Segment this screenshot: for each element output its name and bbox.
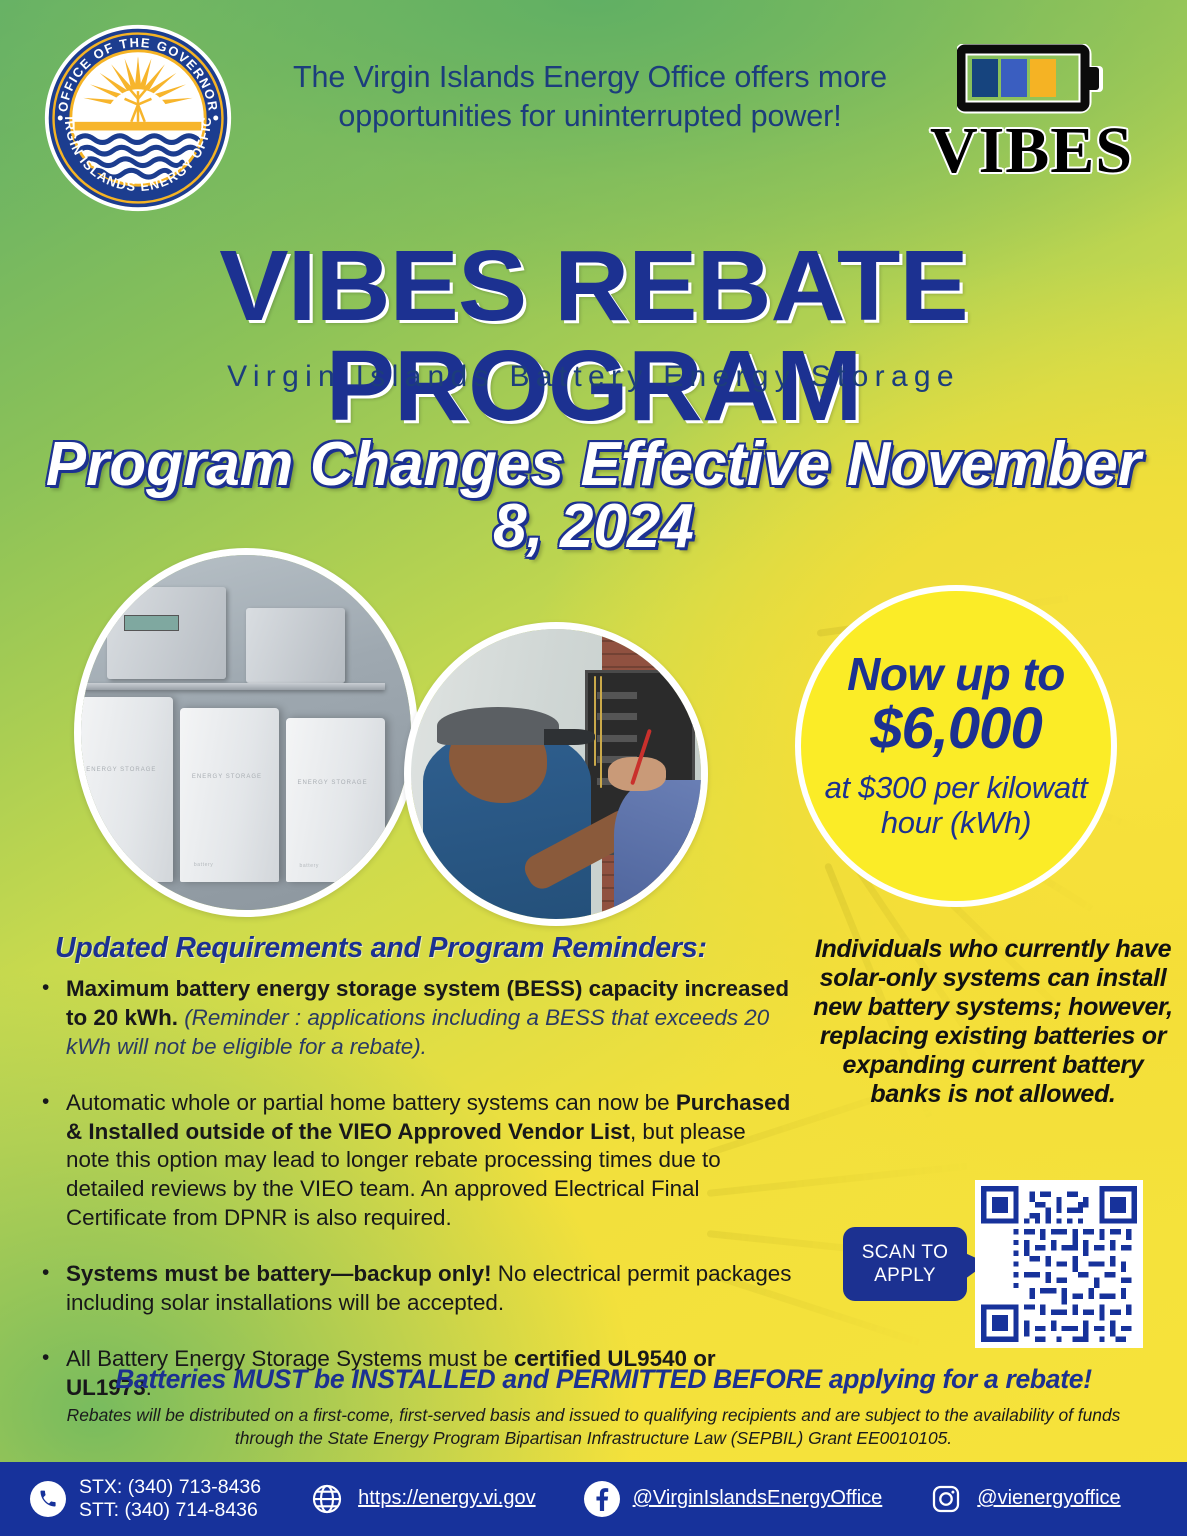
- footer-contact-bar: STX: (340) 713-8436 STT: (340) 714-8436 …: [0, 1462, 1187, 1536]
- solar-only-notice: Individuals who currently have solar-onl…: [812, 935, 1174, 1109]
- header-tagline: The Virgin Islands Energy Office offers …: [280, 58, 900, 136]
- footer-facebook-handle[interactable]: @VirginIslandsEnergyOffice: [633, 1487, 883, 1511]
- instagram-handle[interactable]: @vienergyoffice: [977, 1487, 1120, 1509]
- bullet-3-bold: Systems must be battery—backup only!: [66, 1261, 492, 1286]
- footer-phone-numbers: STX: (340) 713-8436 STT: (340) 714-8436: [79, 1476, 261, 1523]
- fineprint-disclaimer: Rebates will be distributed on a first-c…: [45, 1404, 1142, 1450]
- list-item: Automatic whole or partial home battery …: [34, 1089, 794, 1233]
- footer-instagram[interactable]: @vienergyoffice: [928, 1481, 1120, 1517]
- list-item: Maximum battery energy storage system (B…: [34, 975, 794, 1062]
- poster-root: OFFICE OF THE GOVERNOR VIRGIN ISLANDS EN…: [0, 0, 1187, 1536]
- vibes-logo: VIBES: [924, 44, 1139, 183]
- photo-electrician-at-panel: [404, 622, 708, 926]
- facebook-icon: [584, 1481, 620, 1517]
- rebate-badge-amount: $6,000: [870, 699, 1041, 760]
- footer-website[interactable]: https://energy.vi.gov: [309, 1481, 536, 1517]
- rebate-badge-top-label: Now up to: [847, 651, 1065, 699]
- phone-stt: STT: (340) 714-8436: [79, 1499, 261, 1522]
- globe-icon: [309, 1481, 345, 1517]
- facebook-handle[interactable]: @VirginIslandsEnergyOffice: [633, 1487, 883, 1509]
- list-item: Systems must be battery—backup only! No …: [34, 1260, 794, 1318]
- must-install-notice: Batteries MUST be INSTALLED and PERMITTE…: [0, 1364, 1187, 1395]
- footer-instagram-handle[interactable]: @vienergyoffice: [977, 1487, 1120, 1511]
- scan-to-apply-label: SCAN TO APPLY: [862, 1242, 949, 1286]
- page-subtitle: Virgin Islands Battery Energy Storage: [0, 360, 1187, 394]
- requirements-list: Maximum battery energy storage system (B…: [34, 975, 794, 1430]
- footer-facebook[interactable]: @VirginIslandsEnergyOffice: [584, 1481, 883, 1517]
- vieo-seal-logo: OFFICE OF THE GOVERNOR VIRGIN ISLANDS EN…: [42, 22, 234, 214]
- vibes-wordmark: VIBES: [924, 120, 1139, 183]
- battery-icon: [957, 44, 1107, 114]
- qr-code-apply[interactable]: [975, 1180, 1143, 1348]
- scan-to-apply-callout: SCAN TO APPLY: [843, 1227, 967, 1301]
- page-title: VIBES REBATE PROGRAM: [0, 236, 1187, 436]
- bullet-2-lead: Automatic whole or partial home battery …: [66, 1090, 676, 1115]
- rebate-badge-rate: at $300 per kilowatt hour (kWh): [801, 771, 1111, 840]
- footer-website-link[interactable]: https://energy.vi.gov: [358, 1487, 536, 1511]
- photo-battery-storage-units: ENERGY STORAGEbattery ENERGY STORAGEbatt…: [74, 548, 418, 917]
- phone-stx: STX: (340) 713-8436: [79, 1476, 261, 1499]
- instagram-icon: [928, 1481, 964, 1517]
- phone-icon: [30, 1481, 66, 1517]
- footer-phone[interactable]: STX: (340) 713-8436 STT: (340) 714-8436: [30, 1476, 261, 1523]
- rebate-amount-badge: Now up to $6,000 at $300 per kilowatt ho…: [795, 585, 1117, 907]
- program-changes-banner: Program Changes Effective November 8, 20…: [18, 434, 1169, 558]
- header: OFFICE OF THE GOVERNOR VIRGIN ISLANDS EN…: [0, 0, 1187, 215]
- website-url[interactable]: https://energy.vi.gov: [358, 1487, 536, 1509]
- requirements-heading: Updated Requirements and Program Reminde…: [55, 932, 707, 965]
